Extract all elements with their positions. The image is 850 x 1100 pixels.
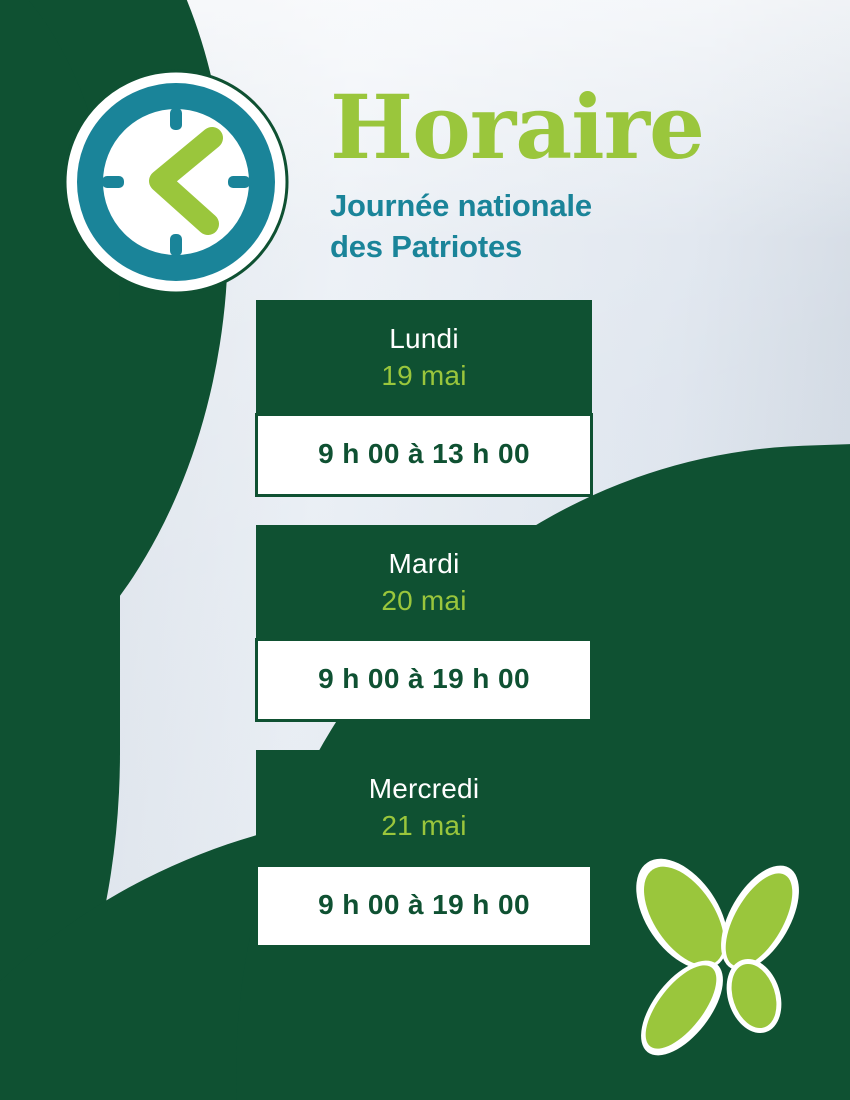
subtitle-line-2: des Patriotes <box>330 227 810 267</box>
schedule-day-label: Mardi <box>266 547 582 580</box>
title-block: Horaire Journée nationale des Patriotes <box>330 84 810 267</box>
page-title: Horaire <box>330 84 810 170</box>
schedule-date-label: 21 mai <box>266 809 582 843</box>
schedule-hours-label: 9 h 00 à 19 h 00 <box>255 864 593 948</box>
butterfly-logo <box>618 852 816 1062</box>
schedule-card: Mercredi 21 mai 9 h 00 à 19 h 00 <box>256 750 592 947</box>
subtitle-line-1: Journée nationale <box>330 186 810 226</box>
schedule-card: Mardi 20 mai 9 h 00 à 19 h 00 <box>256 525 592 722</box>
schedule-day-label: Lundi <box>266 322 582 355</box>
schedule-date-label: 20 mai <box>266 584 582 618</box>
schedule-card-header: Mardi 20 mai <box>256 525 592 638</box>
butterfly-wing-lower-left <box>625 947 738 1062</box>
schedule-day-label: Mercredi <box>266 772 582 805</box>
schedule-hours-label: 9 h 00 à 19 h 00 <box>255 638 593 722</box>
schedule-card-header: Lundi 19 mai <box>256 300 592 413</box>
schedule-list: Lundi 19 mai 9 h 00 à 13 h 00 Mardi 20 m… <box>256 300 592 948</box>
schedule-hours-label: 9 h 00 à 13 h 00 <box>255 413 593 497</box>
schedule-poster: Horaire Journée nationale des Patriotes … <box>0 0 850 1100</box>
schedule-card-header: Mercredi 21 mai <box>256 750 592 863</box>
schedule-card: Lundi 19 mai 9 h 00 à 13 h 00 <box>256 300 592 497</box>
schedule-date-label: 19 mai <box>266 359 582 393</box>
clock-icon <box>62 68 290 296</box>
page-subtitle: Journée nationale des Patriotes <box>330 186 810 267</box>
